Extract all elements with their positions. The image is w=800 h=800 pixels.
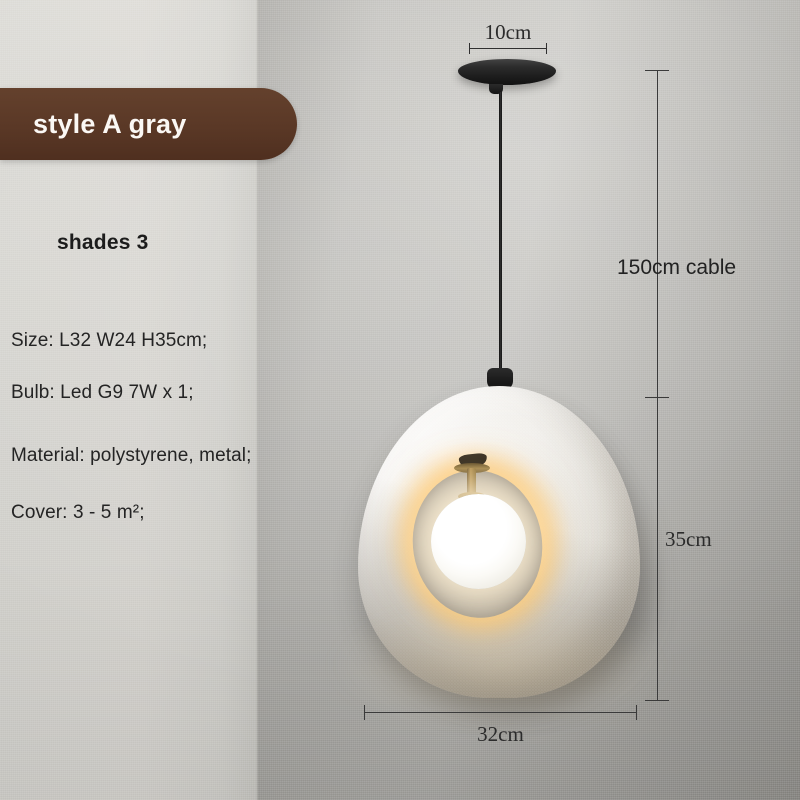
dimension-label-canopy-width: 10cm [469,20,547,45]
dimension-line-shade-width [364,712,637,713]
spec-cover: Cover: 3 - 5 m²; [11,502,145,524]
dimension-tick-bottom [645,700,669,701]
globe-bulb-icon [431,494,526,589]
dimension-label-shade-height: 35cm [665,527,712,552]
style-badge-label: style A gray [33,109,186,140]
spec-material: Material: polystyrene, metal; [11,445,252,467]
style-badge: style A gray [0,88,297,160]
dimension-line-vertical [657,70,658,700]
teardrop-shade-icon [358,386,640,698]
dimension-tick-top [645,70,669,71]
dimension-label-shade-width: 32cm [364,722,637,747]
spec-bulb: Bulb: Led G9 7W x 1; [11,382,194,404]
ceiling-canopy-top [458,59,556,75]
spec-size: Size: L32 W24 H35cm; [11,330,207,352]
cable-icon [499,92,502,373]
product-image-canvas: style A gray shades 3 Size: L32 W24 H35c… [0,0,800,800]
product-title: shades 3 [57,231,149,255]
dimension-line-canopy-width [469,48,547,49]
dimension-label-cable-length: 150cm cable [617,256,736,280]
dimension-tick-middle [645,397,669,398]
